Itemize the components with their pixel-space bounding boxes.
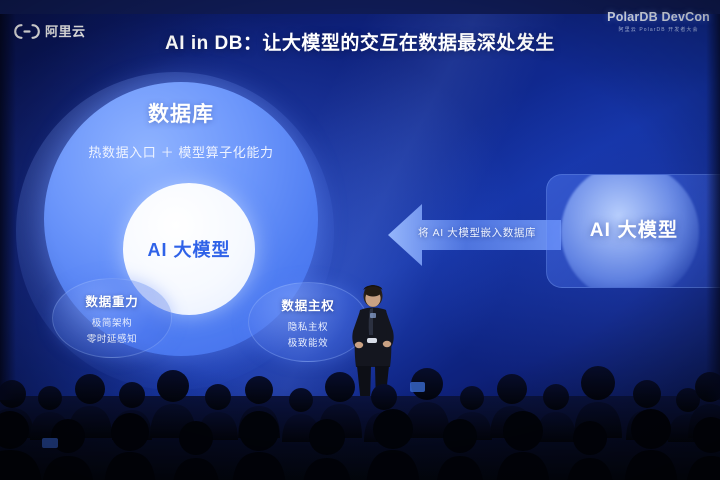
slide-title: AI in DB：让大模型的交互在数据最深处发生	[0, 28, 720, 55]
audience-silhouettes	[0, 352, 720, 480]
bubble-line: 零时延感知	[87, 331, 138, 345]
ai-model-card-label: AI 大模型	[547, 215, 720, 242]
feature-bubble-data-gravity: 数据重力 极简架构 零时延感知	[52, 278, 172, 358]
presentation-photo: 阿里云 PolarDB DevCon 阿里云 PolarDB 开发者大会 AI …	[0, 0, 720, 480]
ai-model-card: AI 大模型	[546, 174, 720, 288]
embed-arrow-label: 将 AI 大模型嵌入数据库	[418, 225, 536, 240]
bubble-title: 数据主权	[281, 295, 334, 314]
database-circle-title: 数据库	[44, 98, 318, 128]
left-edge-shade	[0, 14, 16, 400]
bubble-line: 极致能效	[288, 335, 328, 349]
database-circle-subtitle: 热数据入口 ＋ 模型算子化能力	[34, 142, 328, 161]
bubble-line: 极简架构	[92, 315, 132, 329]
right-edge-shade	[706, 14, 720, 400]
devcon-title: PolarDB DevCon	[607, 11, 710, 24]
ai-model-core-label: AI 大模型	[147, 236, 230, 262]
bubble-line: 隐私主权	[288, 319, 328, 333]
audience-phone-screen	[42, 438, 58, 448]
bubble-title: 数据重力	[85, 291, 138, 310]
